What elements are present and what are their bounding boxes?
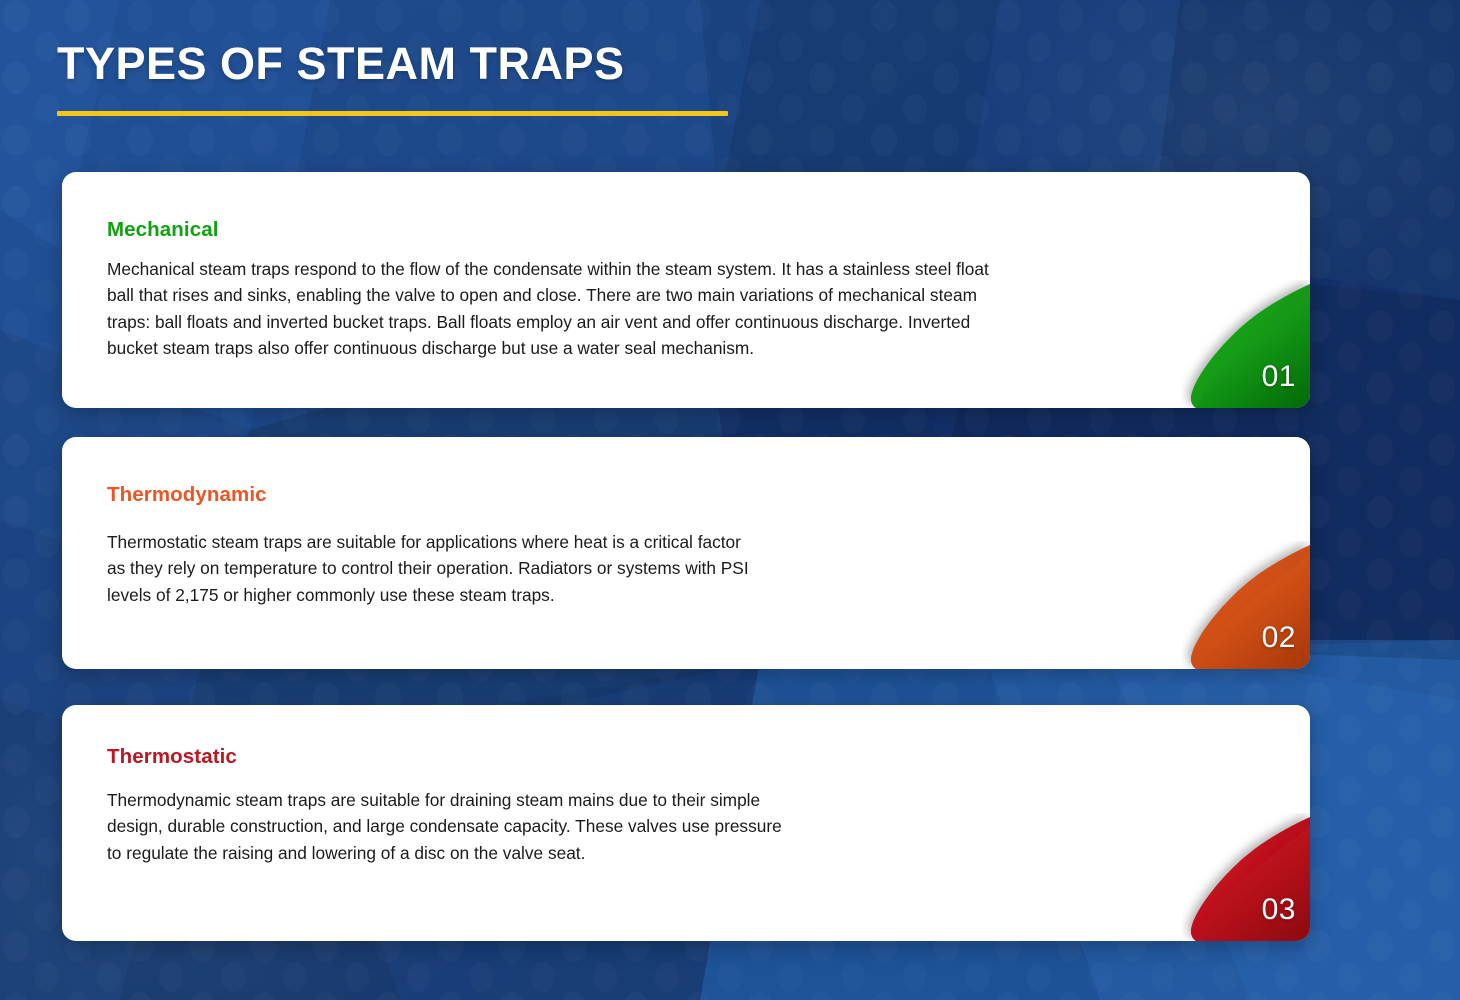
ribbon-number-01: 01 [1262,362,1296,392]
card-thermodynamic[interactable]: Thermodynamic Thermostatic steam traps a… [62,437,1310,669]
card-heading-thermostatic: Thermostatic [107,745,1310,769]
corner-ribbon-03: 03 [1182,813,1310,941]
card-body-mechanical: Mechanical steam traps respond to the fl… [107,256,1197,361]
ribbon-number-02: 02 [1262,623,1296,653]
corner-ribbon-01: 01 [1182,280,1310,408]
card-heading-mechanical: Mechanical [107,218,1310,242]
card-body-thermodynamic: Thermostatic steam traps are suitable fo… [107,529,1197,608]
card-heading-thermodynamic: Thermodynamic [107,483,1310,507]
title-underline-rule [57,111,728,116]
ribbon-number-03: 03 [1262,895,1296,925]
card-thermostatic[interactable]: Thermostatic Thermodynamic steam traps a… [62,705,1310,941]
page-title: TYPES OF STEAM TRAPS [57,40,817,87]
card-body-thermostatic: Thermodynamic steam traps are suitable f… [107,787,1197,866]
page-header: TYPES OF STEAM TRAPS [57,40,817,116]
corner-ribbon-02: 02 [1182,541,1310,669]
card-mechanical[interactable]: Mechanical Mechanical steam traps respon… [62,172,1310,408]
